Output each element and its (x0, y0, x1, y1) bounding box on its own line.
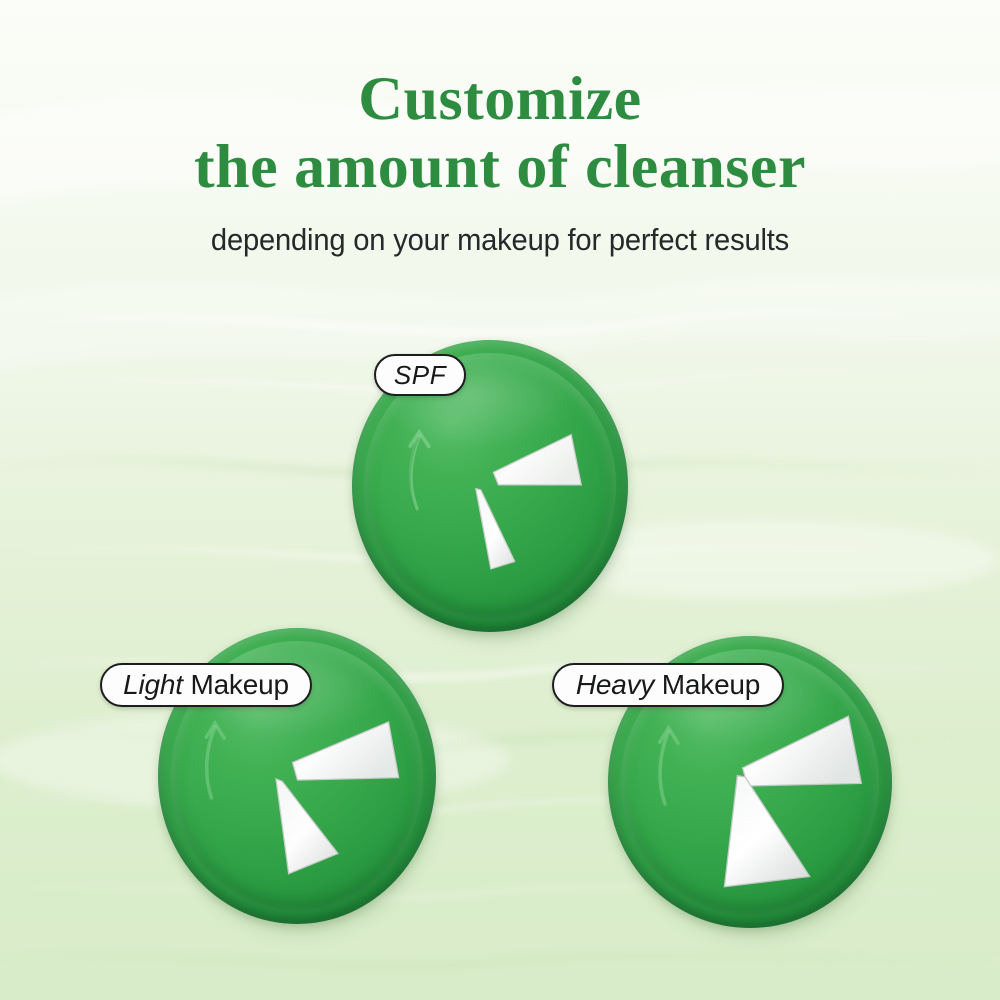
jar-label-emphasis: Heavy (576, 669, 654, 700)
jar-label-light-makeup[interactable]: Light Makeup (100, 663, 312, 707)
product-infographic: Customize the amount of cleanser dependi… (0, 0, 1000, 1000)
cleanser-wedge (476, 489, 515, 569)
cleanser-wedge (724, 776, 809, 887)
curved-open-arrow-icon (660, 728, 678, 804)
cleanser-wedge-group (476, 435, 581, 569)
curved-open-arrow-icon (206, 724, 224, 799)
jar-label-emphasis: Light (123, 669, 183, 700)
cleanser-wedge (275, 779, 337, 874)
cleanser-wedge-group (724, 716, 861, 887)
cleanser-wedge (292, 722, 398, 780)
jar-label-text: SPF (394, 360, 446, 391)
jar-label-rest: Makeup (183, 669, 289, 700)
jar-label-text: Light Makeup (123, 669, 289, 701)
jar-label-emphasis: SPF (394, 360, 446, 390)
cleanser-wedge (742, 716, 861, 786)
curved-open-arrow-icon (411, 432, 430, 509)
jar-label-rest: Makeup (654, 669, 760, 700)
cleanser-wedge (494, 435, 582, 485)
jar-label-text: Heavy Makeup (576, 669, 760, 701)
jar-label-heavy-makeup[interactable]: Heavy Makeup (552, 663, 784, 707)
cleanser-wedge-group (275, 722, 398, 874)
jar-label-spf[interactable]: SPF (374, 354, 466, 396)
